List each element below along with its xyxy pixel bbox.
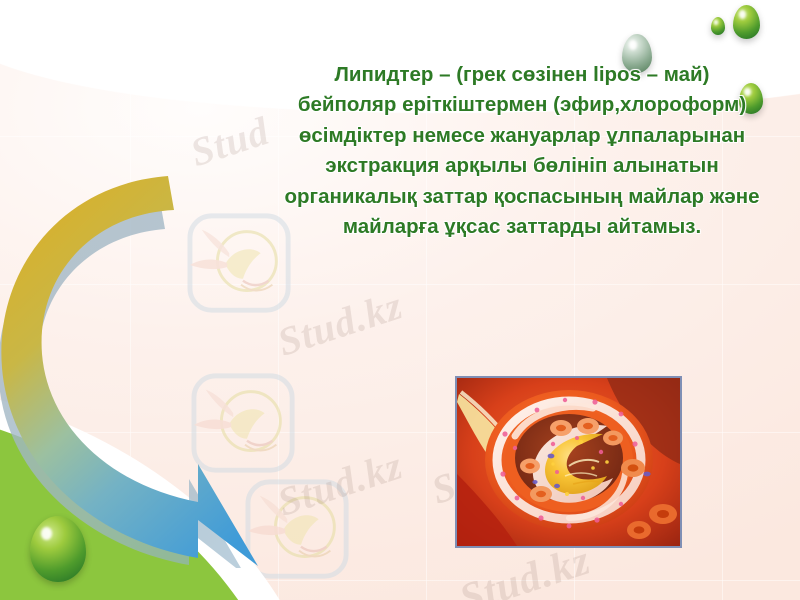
- droplet-top-right-small: [711, 17, 725, 35]
- slide-body-text: Липидтер – (грек сөзінен lipos – май) бе…: [283, 60, 761, 242]
- droplet-top-right-large: [733, 5, 760, 39]
- artery-plaque-illustration-canvas: [457, 378, 680, 546]
- droplet-bottom-left: [30, 516, 86, 582]
- slide-canvas: Stud.kz Stud Stud.kz Stud.kz Stud.kz Stu…: [0, 0, 800, 600]
- artery-plaque-illustration: [455, 376, 682, 548]
